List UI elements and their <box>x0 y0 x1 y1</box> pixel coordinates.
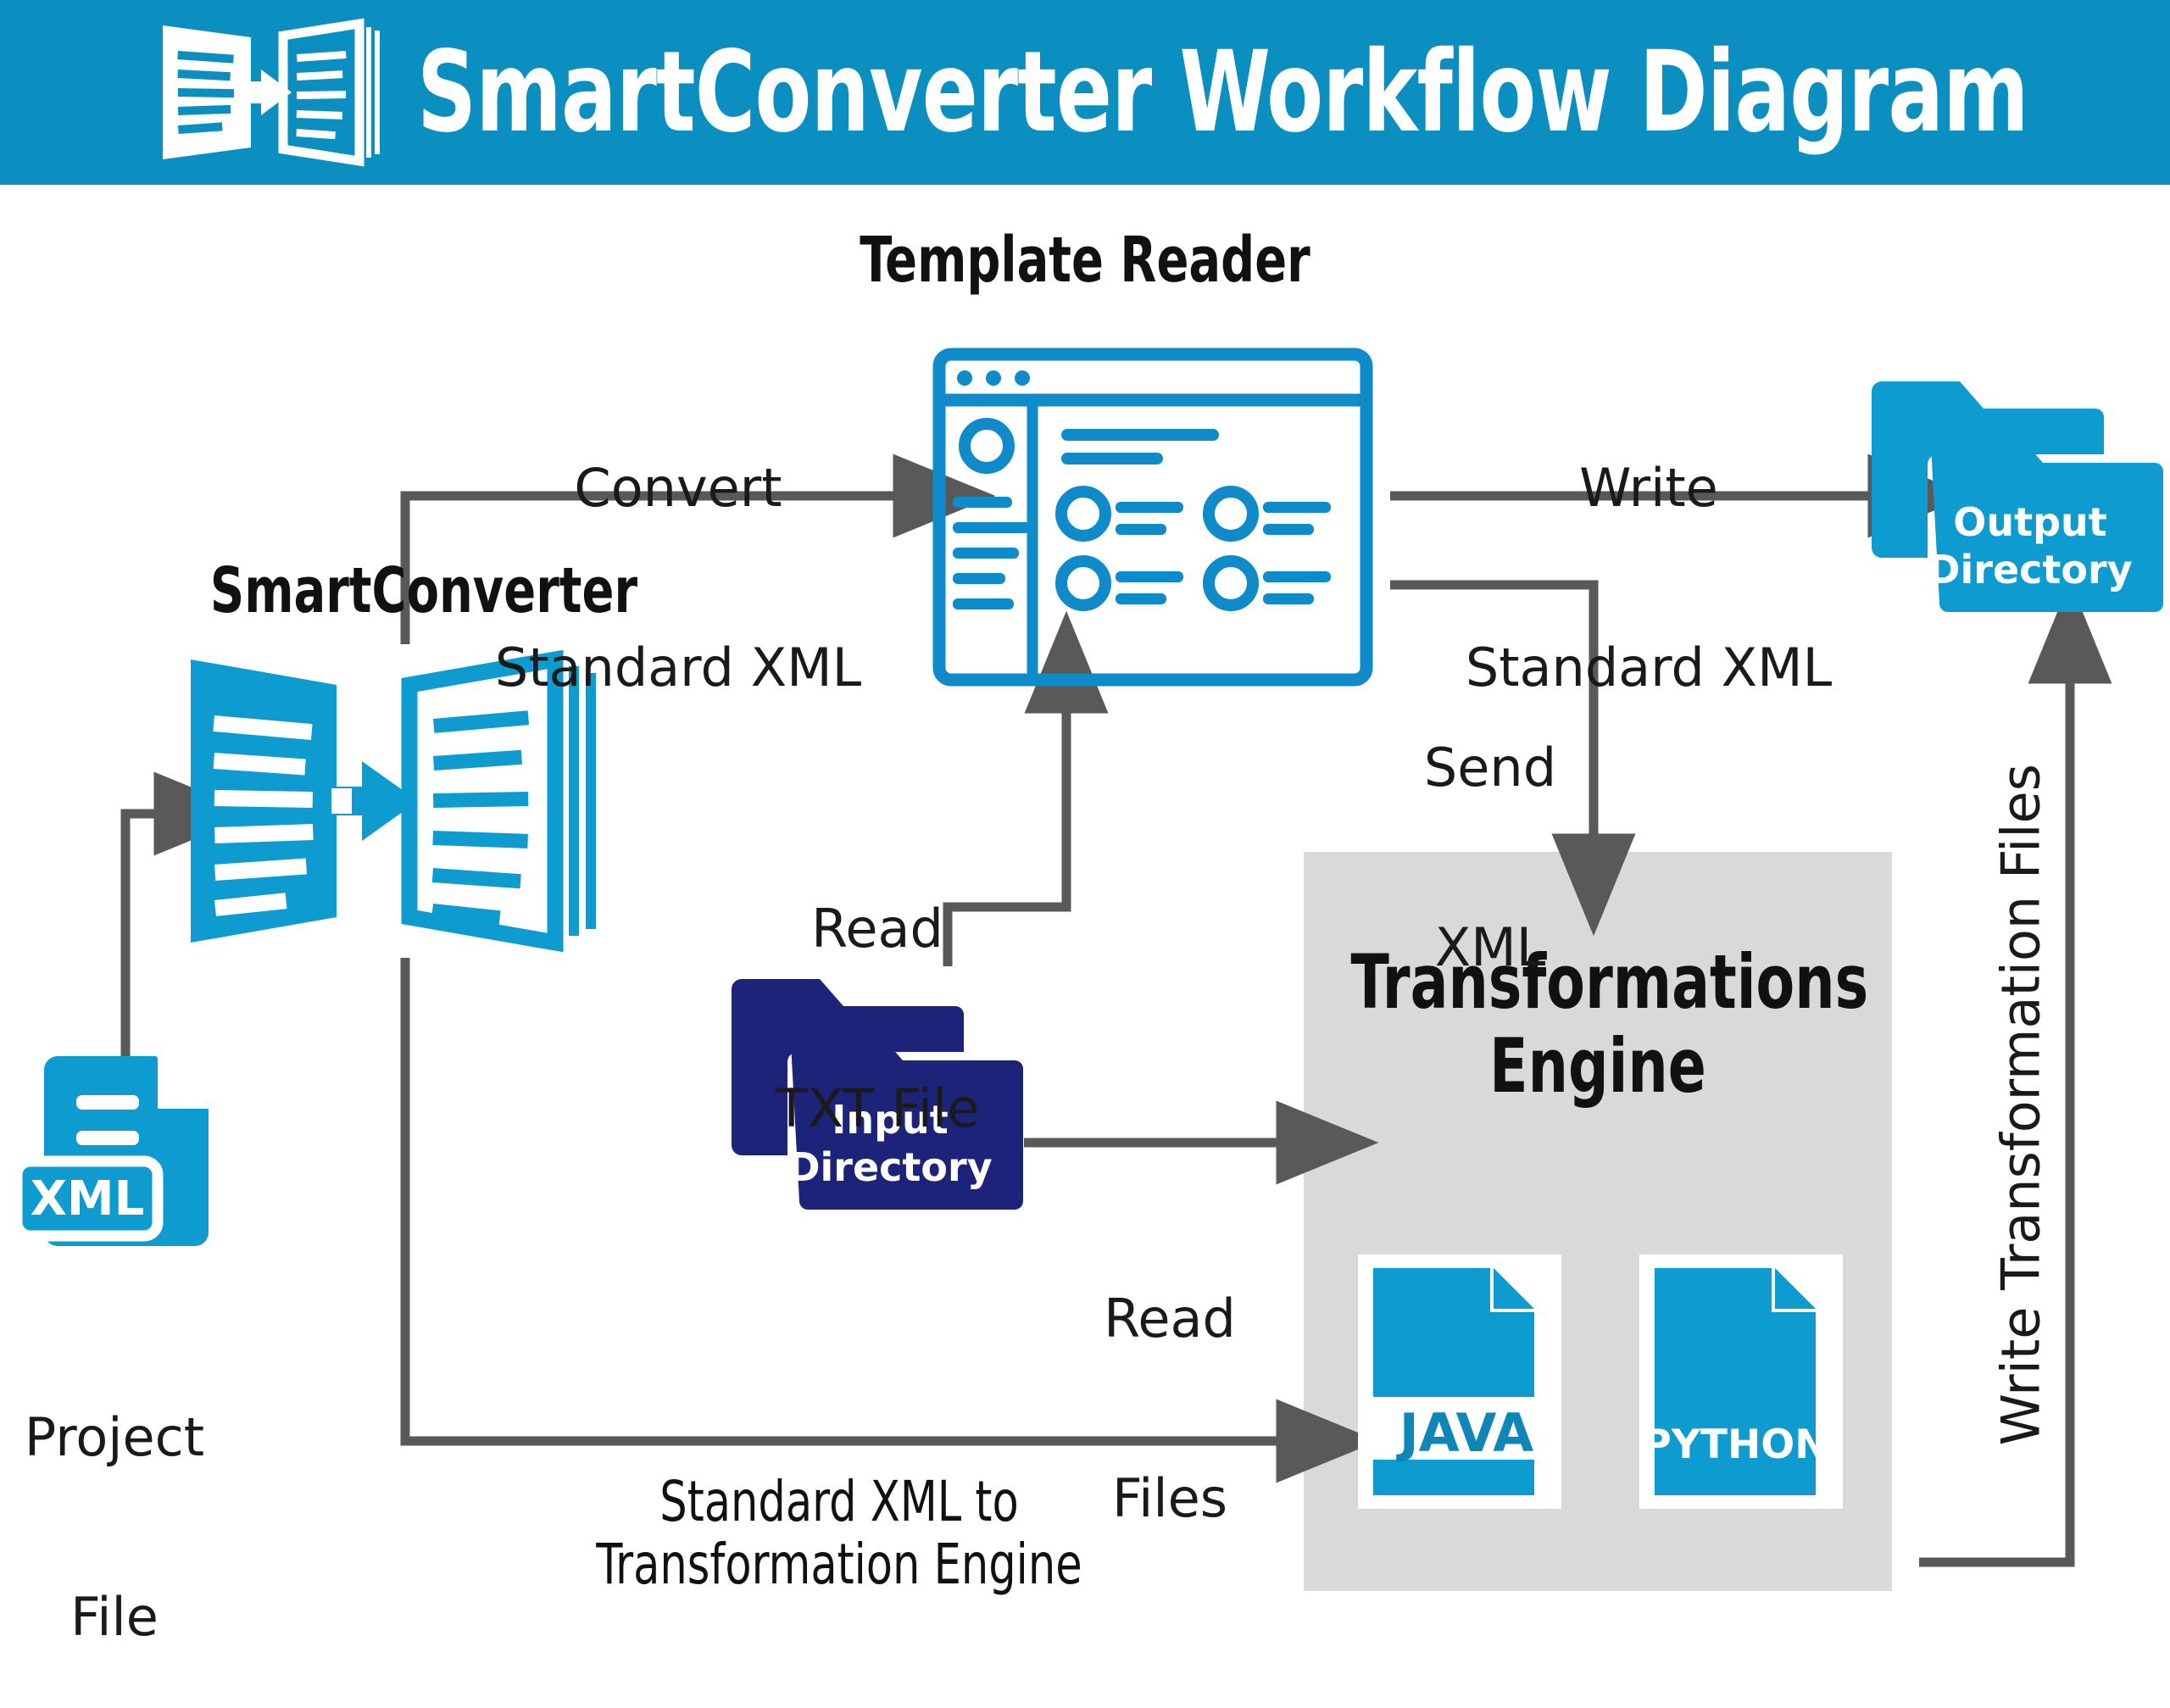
edge-label-read-txt-file: Read TXT File <box>737 780 1017 1199</box>
java-file-node[interactable]: JAVA <box>1358 1255 1561 1509</box>
edge-label-convert-standard-xml: Convert Standard XML <box>390 339 966 759</box>
send-xml-line2: XML <box>1388 918 1592 978</box>
python-file-icon: PYTHON <box>1639 1255 1843 1509</box>
write-standard-xml-line1: Write <box>1407 459 1890 519</box>
edge-label-write-transformation-files: Write Transformation Files <box>1992 852 2052 1445</box>
java-file-label: JAVA <box>1396 1402 1534 1464</box>
project-file-label-line2: File <box>0 1588 229 1648</box>
xml-badge-text: XML <box>31 1171 145 1227</box>
template-reader-node[interactable] <box>932 348 1373 687</box>
template-reader-title: Template Reader <box>815 229 1355 292</box>
send-xml-line1: Send <box>1388 738 1592 798</box>
read-txt-file-line1: Read <box>737 899 1017 960</box>
output-directory-label-line1: Output <box>1953 499 2107 545</box>
project-file-node[interactable]: XML <box>8 1043 237 1263</box>
browser-window-icon <box>932 348 1373 687</box>
edge-project-to-converter <box>125 814 159 1066</box>
project-file-label-line1: Project <box>0 1408 229 1468</box>
standard-xml-to-engine-line1: Standard XML to <box>526 1471 1153 1533</box>
standard-xml-to-engine-line2: Transformation Engine <box>526 1533 1153 1596</box>
output-directory-label-line2: Directory <box>1928 547 2132 593</box>
python-file-node[interactable]: PYTHON <box>1639 1255 1843 1509</box>
edge-label-send-xml: Send XML <box>1388 619 1592 1038</box>
project-file-label: Project File <box>0 1288 229 1708</box>
convert-standard-xml-line1: Convert <box>390 459 966 519</box>
java-file-icon: JAVA <box>1358 1255 1561 1509</box>
read-txt-file-line2: TXT File <box>737 1079 1017 1139</box>
xml-file-icon: XML <box>8 1043 237 1263</box>
edge-label-standard-xml-to-engine: Standard XML to Transformation Engine <box>526 1471 1153 1596</box>
output-directory-node[interactable]: Output Directory <box>1865 373 2136 627</box>
folder-icon: Output Directory <box>1865 373 2136 627</box>
convert-standard-xml-line2: Standard XML <box>390 638 966 698</box>
read-files-line1: Read <box>1051 1289 1288 1349</box>
python-file-label: PYTHON <box>1642 1421 1828 1468</box>
